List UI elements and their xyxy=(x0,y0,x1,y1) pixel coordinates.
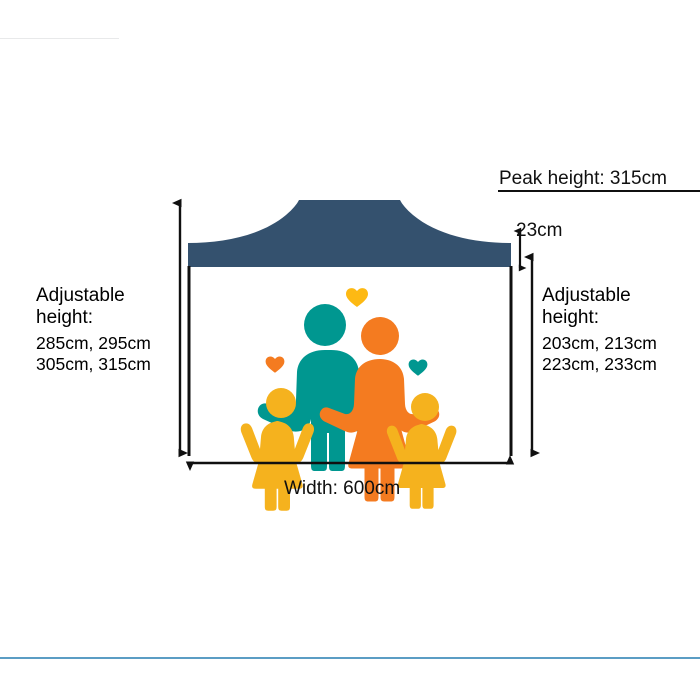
right-label-line1: Adjustable xyxy=(542,285,657,307)
heart-top xyxy=(346,288,368,307)
diagram-canvas: Peak height: 315cm 23cm Adjustable heigh… xyxy=(0,0,700,700)
right-adjustable-height-label: Adjustable height: 203cm, 213cm 223cm, 2… xyxy=(542,285,657,375)
right-label-line4: 223cm, 233cm xyxy=(542,354,657,375)
bottom-accent-line xyxy=(0,657,700,659)
peak-height-label: Peak height: 315cm xyxy=(499,167,667,191)
right-label-line2: height: xyxy=(542,307,657,329)
width-label: Width: 600cm xyxy=(284,477,400,501)
left-label-line1: Adjustable xyxy=(36,285,151,307)
left-adjustable-height-label: Adjustable height: 285cm, 295cm 305cm, 3… xyxy=(36,285,151,375)
left-label-line3: 285cm, 295cm xyxy=(36,333,151,354)
right-label-line3: 203cm, 213cm xyxy=(542,333,657,354)
valance-drop-label: 23cm xyxy=(516,219,562,243)
heart-left xyxy=(266,357,285,373)
left-label-line4: 305cm, 315cm xyxy=(36,354,151,375)
heart-right xyxy=(409,360,428,376)
left-label-line2: height: xyxy=(36,307,151,329)
canopy-shape xyxy=(188,200,511,267)
